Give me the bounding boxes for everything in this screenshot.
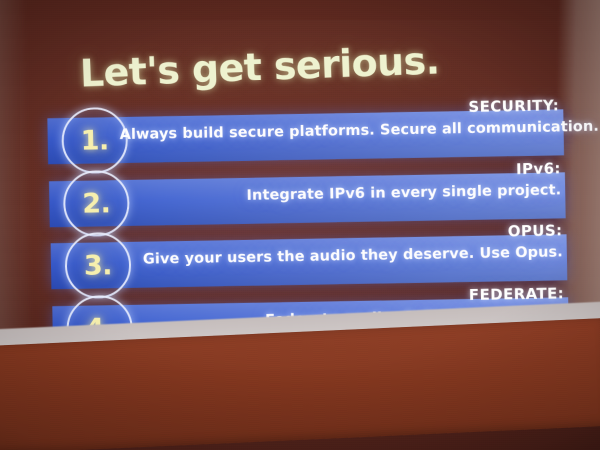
number-circle-icon: 3.	[64, 232, 131, 299]
photo-of-projected-slide: Let's get serious. 1. SECURITY: Always b…	[0, 0, 600, 450]
list-item: 2. IPv6: Integrate IPv6 in every single …	[49, 172, 566, 227]
number-circle-icon: 2.	[63, 170, 130, 237]
item-text-block: OPUS: Give your users the audio they des…	[122, 221, 563, 271]
item-number: 3.	[84, 250, 113, 281]
list-item: 1. SECURITY: Always build secure platfor…	[47, 109, 564, 164]
item-text-block: SECURITY: Always build secure platforms.…	[119, 96, 560, 146]
item-number: 2.	[82, 188, 111, 219]
number-circle-icon: 1.	[61, 107, 128, 174]
list-item: 3. OPUS: Give your users the audio they …	[51, 234, 568, 289]
item-text-block: IPv6: Integrate IPv6 in every single pro…	[121, 159, 562, 209]
item-number: 1.	[80, 125, 109, 156]
